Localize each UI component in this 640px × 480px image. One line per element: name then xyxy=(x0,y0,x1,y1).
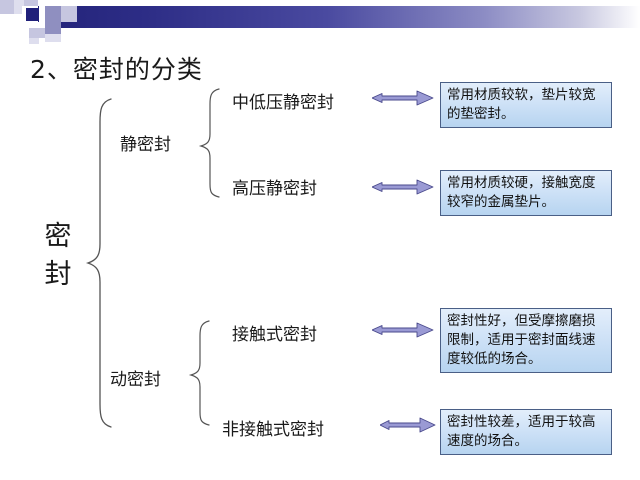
header-square-light-2 xyxy=(24,0,38,6)
decorative-header-band xyxy=(0,0,640,46)
header-square-mid-1 xyxy=(45,6,61,22)
header-square-light-1 xyxy=(0,0,14,14)
note-box-high-pressure-static-seal: 常用材质较硬，接触宽度较窄的金属垫片。 xyxy=(440,170,612,216)
header-square-light-3 xyxy=(61,6,77,22)
header-square-light-4 xyxy=(29,28,45,38)
dynamic-seal-brace xyxy=(186,318,214,428)
static-seal-brace xyxy=(196,86,224,200)
leaf-label-low-medium-pressure-static-seal: 中低压静密封 xyxy=(232,88,334,113)
branch-label-dynamic-seal: 动密封 xyxy=(110,365,161,390)
note-box-low-medium-pressure-static-seal: 常用材质较软，垫片较宽的垫密封。 xyxy=(440,82,612,128)
header-gradient-bar xyxy=(38,6,640,28)
tree-root-label: 密封 xyxy=(40,218,76,294)
leaf-label-high-pressure-static-seal: 高压静密封 xyxy=(232,174,317,199)
note-box-contact-seal: 密封性好，但受摩擦磨损限制，适用于密封面线速度较低的场合。 xyxy=(440,308,612,373)
branch-label-static-seal: 静密封 xyxy=(120,130,171,155)
arrow-to-note-3 xyxy=(372,320,434,340)
leaf-label-non-contact-seal: 非接触式密封 xyxy=(222,415,324,440)
header-square-mid-2 xyxy=(45,22,61,34)
page-title: 2、密封的分类 xyxy=(30,50,203,86)
arrow-to-note-4 xyxy=(380,415,436,435)
header-square-white-1 xyxy=(22,6,26,23)
arrow-to-note-1 xyxy=(372,88,434,108)
header-square-pale-2 xyxy=(45,34,61,42)
header-square-pale-3 xyxy=(29,38,39,44)
arrow-to-note-2 xyxy=(372,177,434,197)
note-box-non-contact-seal: 密封性较差，适用于较高速度的场合。 xyxy=(440,409,612,455)
header-square-dark-1 xyxy=(26,8,39,21)
leaf-label-contact-seal: 接触式密封 xyxy=(232,320,317,345)
